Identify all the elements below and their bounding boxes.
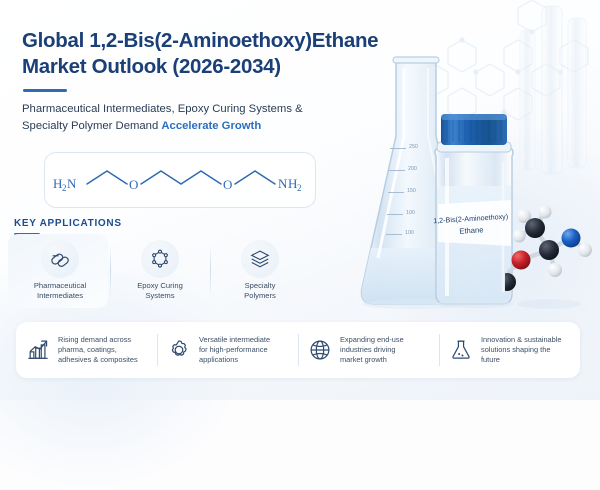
svg-text:2: 2 (62, 183, 67, 193)
application-label-line1: Specialty (245, 281, 276, 290)
stacked-layers-icon (241, 240, 279, 278)
svg-text:H: H (53, 176, 62, 191)
subtitle-highlight: Accelerate Growth (161, 120, 261, 132)
capsule-pills-icon (41, 240, 79, 278)
graduation-label: 200 (408, 166, 417, 172)
insight-item-rising-demand[interactable]: Rising demand across pharma, coatings, a… (16, 322, 157, 378)
application-label-line2: Intermediates (37, 291, 83, 300)
graduation-label: 100 (406, 210, 415, 216)
insight-text: Rising demand across pharma, coatings, a… (58, 335, 138, 365)
application-card-epoxy-curing-systems[interactable]: Epoxy Curing Systems (110, 237, 210, 307)
flask-icon (448, 337, 474, 363)
svg-text:2: 2 (297, 183, 302, 193)
globe-icon (307, 337, 333, 363)
insight-line1: Innovation & sustainable (481, 335, 562, 344)
graduation-label: 250 (409, 144, 418, 150)
insight-line3: future (481, 355, 500, 364)
svg-text:N: N (67, 176, 77, 191)
application-label-line1: Epoxy Curing (137, 281, 183, 290)
bottle-label: 1,2-Bis(2-Aminoethoxy) Ethane (427, 202, 515, 245)
insight-line2: solutions shaping the (481, 345, 550, 354)
insight-line2: industries driving (340, 345, 395, 354)
insight-text: Innovation & sustainable solutions shapi… (481, 335, 562, 365)
insight-text: Expanding end-use industries driving mar… (340, 335, 404, 365)
application-label-line2: Systems (145, 291, 174, 300)
application-label: Specialty Polymers (217, 281, 303, 300)
chemical-structure-box: H 2 N O O N H 2 (44, 152, 316, 208)
title-divider (23, 89, 67, 92)
insight-text: Versatile intermediate for high-performa… (199, 335, 270, 365)
insight-line3: adhesives & composites (58, 355, 138, 364)
subtitle-line1: Pharmaceutical Intermediates, Epoxy Curi… (22, 103, 303, 115)
insight-line2: for high-performance (199, 345, 268, 354)
insight-item-expanding-end-use[interactable]: Expanding end-use industries driving mar… (298, 322, 439, 378)
insight-line1: Versatile intermediate (199, 335, 270, 344)
page-title-line1: Global 1,2-Bis(2-Aminoethoxy)Ethane (22, 29, 378, 52)
subtitle-line2: Specialty Polymer Demand (22, 120, 161, 132)
graduation-label: 100 (405, 230, 414, 236)
graduation-label: 150 (407, 188, 416, 194)
bottle-label-line2: Ethane (459, 225, 484, 235)
application-card-pharmaceutical-intermediates[interactable]: Pharmaceutical Intermediates (10, 237, 110, 307)
subtitle: Pharmaceutical Intermediates, Epoxy Curi… (22, 101, 332, 134)
page-title: Global 1,2-Bis(2-Aminoethoxy)Ethane Mark… (22, 28, 382, 80)
application-label: Pharmaceutical Intermediates (17, 281, 103, 300)
application-label-line1: Pharmaceutical (34, 281, 86, 290)
svg-text:N: N (278, 176, 288, 191)
insights-bar: Rising demand across pharma, coatings, a… (16, 322, 580, 378)
key-applications-heading: KEY APPLICATIONS (14, 218, 122, 229)
infographic-canvas: 250 200 150 100 100 (0, 0, 600, 400)
application-card-specialty-polymers[interactable]: Specialty Polymers (210, 237, 310, 307)
growth-chart-icon (25, 337, 51, 363)
svg-text:O: O (129, 177, 138, 192)
svg-text:O: O (223, 177, 232, 192)
hexagon-molecule-icon (141, 240, 179, 278)
insight-line1: Expanding end-use (340, 335, 404, 344)
header-block: Global 1,2-Bis(2-Aminoethoxy)Ethane Mark… (22, 28, 382, 134)
svg-text:H: H (288, 176, 297, 191)
insight-line3: market growth (340, 355, 387, 364)
key-applications-row: Pharmaceutical Intermediates Epoxy Curin… (10, 237, 310, 307)
application-label-line2: Polymers (244, 291, 276, 300)
page-title-line2: Market Outlook (2026-2034) (22, 54, 382, 80)
molecule-3d-model-graphic (505, 192, 600, 312)
insight-line1: Rising demand across (58, 335, 131, 344)
key-applications-header: KEY APPLICATIONS (14, 218, 122, 236)
insight-item-versatile-intermediate[interactable]: Versatile intermediate for high-performa… (157, 322, 298, 378)
insight-line2: pharma, coatings, (58, 345, 117, 354)
gear-icon (166, 337, 192, 363)
insight-line3: applications (199, 355, 238, 364)
bottle-label-line1: 1,2-Bis(2-Aminoethoxy) (433, 211, 509, 225)
chemical-structure-diagram: H 2 N O O N H 2 (45, 153, 317, 209)
insight-item-innovation-sustainable[interactable]: Innovation & sustainable solutions shapi… (439, 322, 580, 378)
application-label: Epoxy Curing Systems (117, 281, 203, 300)
